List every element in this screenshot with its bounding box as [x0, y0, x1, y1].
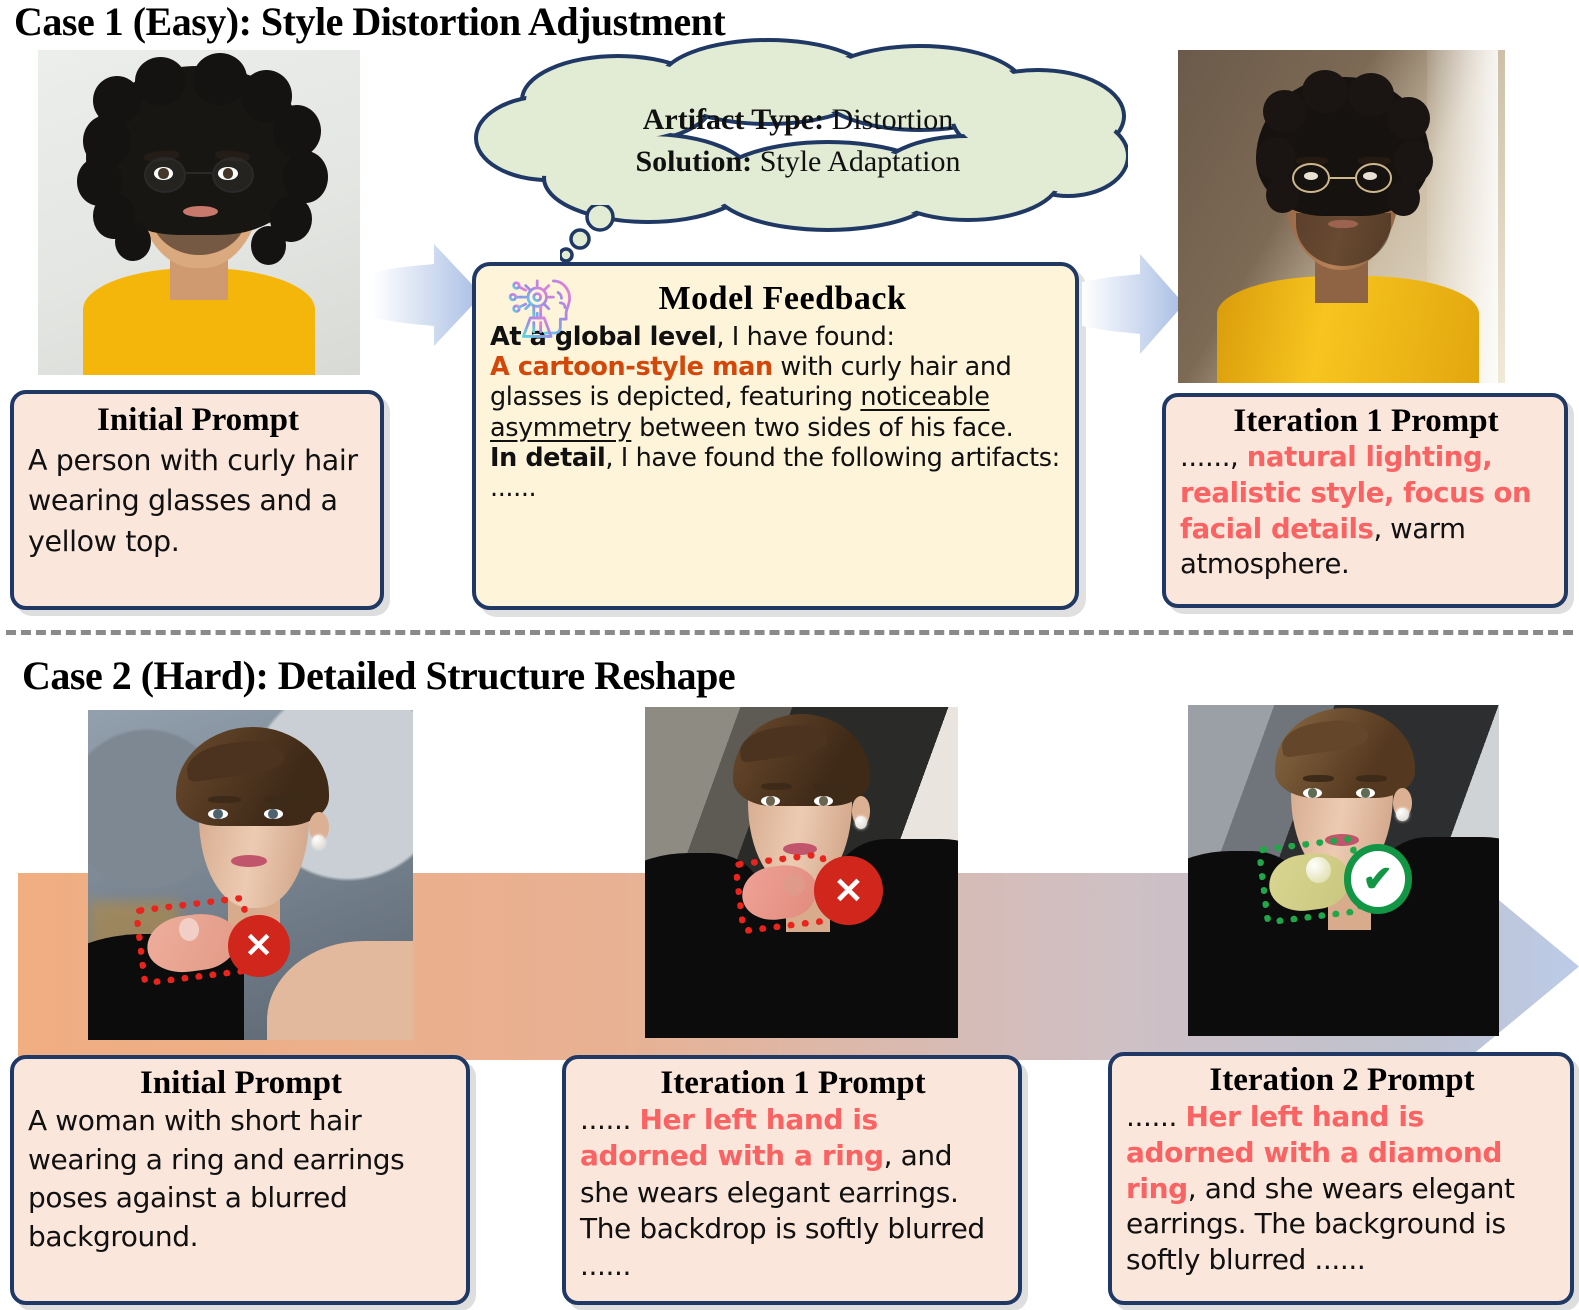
reject-badge-2: ✕	[814, 856, 883, 926]
reject-badge-symbol: ✕	[833, 873, 863, 909]
accept-badge: ✔	[1344, 844, 1412, 914]
feedback-highlight: A cartoon-style man	[490, 352, 773, 382]
model-feedback-card: Model Feedback At a global level, I have…	[472, 262, 1079, 610]
iteration2-prompt-card-case2: Iteration 2 Prompt ...... Her left hand …	[1108, 1052, 1574, 1305]
iteration1-prompt-title-2: Iteration 1 Prompt	[580, 1065, 1006, 1102]
initial-prompt-title-2: Initial Prompt	[28, 1065, 454, 1102]
arrow-right-icon-1	[372, 240, 484, 350]
reject-badge-1: ✕	[228, 915, 290, 978]
section-divider	[6, 630, 1573, 635]
figure-root: Case 1 (Easy): Style Distortion Adjustme…	[0, 0, 1579, 1310]
arrow-right-icon-2	[1082, 250, 1186, 358]
iteration1-prompt-card-case1: Iteration 1 Prompt ......, natural light…	[1162, 393, 1568, 608]
feedback-line1-rest: , I have found:	[716, 322, 894, 352]
image-woman-iteration1: ✕	[645, 707, 958, 1038]
initial-prompt-card-case2: Initial Prompt A woman with short hair w…	[10, 1055, 470, 1305]
iteration2-prompt-title: Iteration 2 Prompt	[1126, 1062, 1558, 1099]
iteration2-prompt-body: ...... Her left hand is adorned with a d…	[1126, 1099, 1558, 1278]
image-woman-initial: ✕	[88, 710, 413, 1040]
reject-badge-symbol: ✕	[244, 929, 273, 963]
initial-prompt-card-case1: Initial Prompt A person with curly hair …	[10, 390, 384, 610]
feedback-after-underline: between two sides of his face.	[631, 413, 1013, 443]
solution-row: Solution: Style Adaptation	[635, 145, 960, 179]
ai-head-icon	[506, 274, 580, 348]
iter2-prefix: ......	[1126, 1100, 1186, 1133]
iter1-c2-prefix: ......	[580, 1103, 640, 1136]
feedback-body: At a global level, I have found: A carto…	[490, 322, 1063, 503]
feedback-detail-label: In detail	[490, 443, 605, 473]
feedback-title: Model Feedback	[502, 280, 1063, 318]
initial-prompt-title: Initial Prompt	[28, 402, 368, 439]
initial-prompt-body: A person with curly hair wearing glasses…	[28, 441, 368, 562]
artifact-type-label: Artifact Type:	[643, 103, 824, 136]
case2-title: Case 2 (Hard): Detailed Structure Reshap…	[22, 652, 735, 699]
iteration1-prompt-card-case2: Iteration 1 Prompt ...... Her left hand …	[562, 1055, 1022, 1305]
iteration1-prompt-body-2: ...... Her left hand is adorned with a r…	[580, 1102, 1006, 1284]
image-realistic-man	[1178, 50, 1505, 383]
artifact-type-value: Distortion	[832, 103, 954, 136]
image-woman-iteration2: ✔	[1188, 705, 1499, 1036]
solution-value: Style Adaptation	[760, 145, 961, 178]
image-cartoon-man	[38, 50, 360, 375]
artifact-type-row: Artifact Type: Distortion	[643, 103, 954, 137]
iteration1-prompt-body: ......, natural lighting, realistic styl…	[1180, 440, 1552, 583]
initial-prompt-body-2: A woman with short hair wearing a ring a…	[28, 1102, 454, 1257]
iteration1-prompt-title: Iteration 1 Prompt	[1180, 403, 1552, 440]
solution-label: Solution:	[635, 145, 752, 178]
thought-bubble-tail	[560, 205, 640, 265]
iter1-prefix: ......,	[1180, 441, 1247, 473]
accept-badge-symbol: ✔	[1363, 861, 1393, 897]
